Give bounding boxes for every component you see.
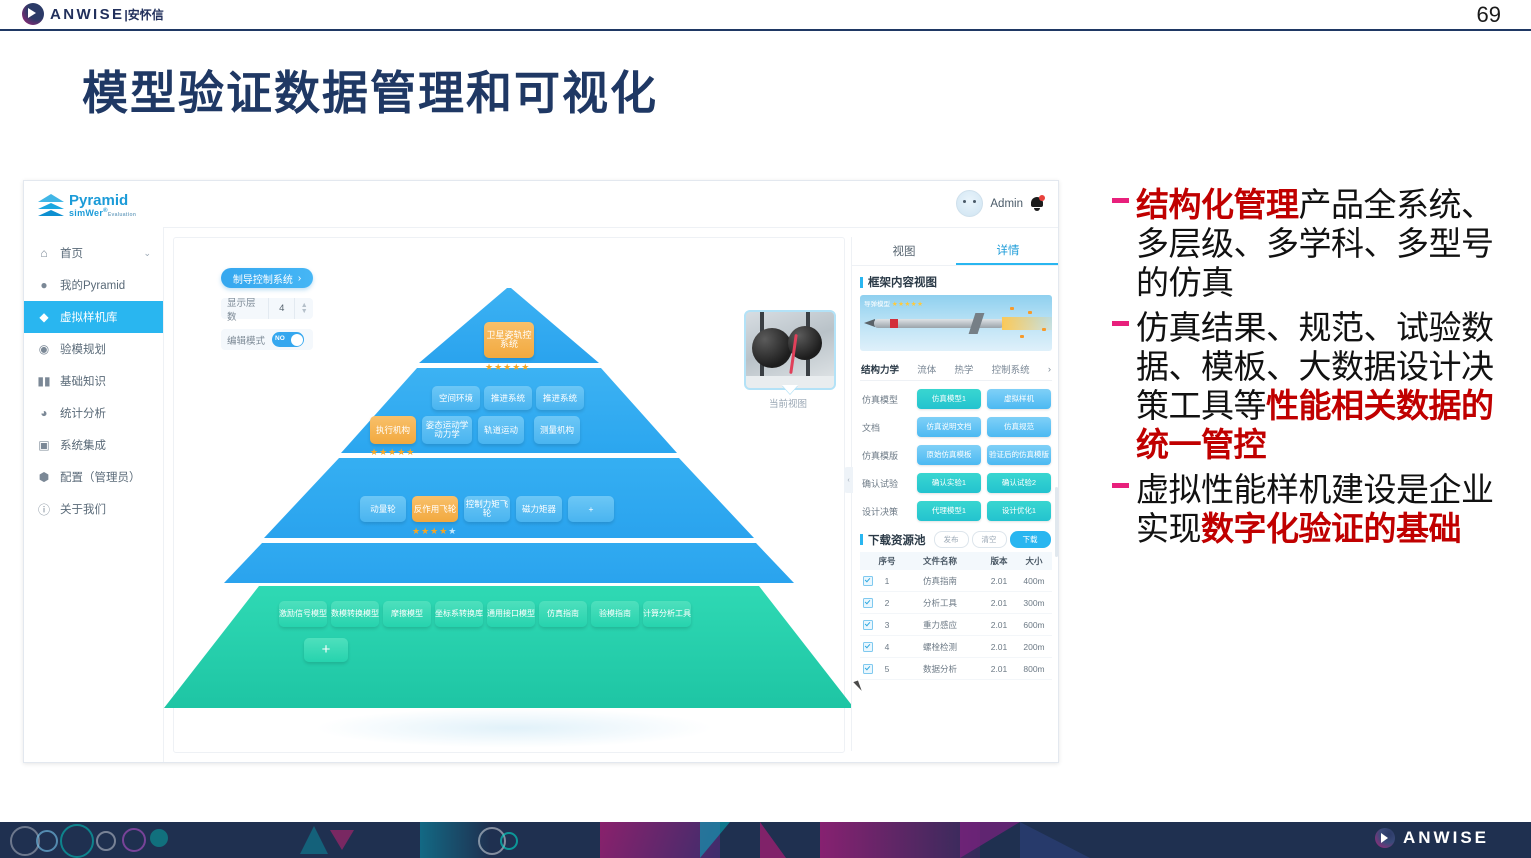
table-cell: 2.01 [982,664,1016,674]
bullet-dash-icon [1112,321,1129,326]
anwise-logo-icon [22,3,44,25]
pyramid-logo-icon [38,194,64,218]
row-checkbox[interactable] [863,576,873,586]
brand-name-en: ANWISE [50,6,124,23]
robot-icon: ▣ [37,438,51,452]
missile-rating-stars: ★★★★★ [892,301,924,308]
matrix-button[interactable]: 仿真规范 [987,417,1051,437]
pyramid-node[interactable]: 测量机构 [534,416,580,444]
current-view-label: 当前视图 [752,396,824,410]
pyramid-product-name: Pyramid [69,193,136,208]
sidebar-item-0[interactable]: ⌂首页⌄ [24,237,163,269]
pyramid-node[interactable]: 通用接口模型 [487,601,535,627]
download-action-2[interactable]: 下载 [1010,531,1051,548]
table-cell: 2.01 [982,576,1016,586]
missile-preview-image[interactable]: 导弹模型 ★★★★★ [860,295,1052,351]
table-cell: 2 [876,598,898,608]
frame-section-title: 框架内容视图 [852,266,1059,295]
right-panel-tabs: 视图详情 [852,237,1059,266]
table-cell: 仿真指南 [898,575,982,587]
home-icon: ⌂ [37,246,51,260]
application-screenshot: Pyramid simWer®Evaluation ⌂首页⌄●我的Pyramid… [23,180,1059,763]
rating-stars: ★★★★★ [370,447,415,458]
pyramid-node[interactable]: 控制力矩飞轮 [464,496,510,522]
pyramid-level-shape [224,543,794,583]
discipline-tab-1[interactable]: 流体 [916,362,937,376]
column-header: 大小 [1016,555,1052,567]
sidebar-item-2[interactable]: ◆虚拟样机库 [24,301,163,333]
download-table: 序号文件名称版本大小 1仿真指南2.01400m2分析工具2.01300m3重力… [860,552,1052,680]
user-name: Admin [990,198,1023,210]
sidebar-item-label: 统计分析 [60,405,106,421]
compass-icon: ◉ [37,342,51,356]
matrix-button[interactable]: 确认实验1 [917,473,981,493]
bullet-item-2: 虚拟性能样机建设是企业实现数字化验证的基础 [1112,471,1520,549]
sidebar-item-1[interactable]: ●我的Pyramid [24,269,163,301]
user-area[interactable]: Admin [956,190,1044,217]
current-view-thumbnail[interactable] [744,310,836,390]
table-cell: 4 [876,642,898,652]
matrix-row: 文档仿真说明文档仿真规范 [858,413,1054,441]
matrix-row-label: 设计决策 [858,505,914,518]
discipline-subtabs: 结构力学流体热学控制系统› [860,358,1052,381]
bullet-list: 结构化管理产品全系统、多层级、多学科、多型号的仿真仿真结果、规范、试验数据、模板… [1112,186,1520,554]
bullet-dash-icon [1112,198,1129,203]
right-panel: ‹ 视图详情 框架内容视图 导弹模型 ★★★★★ 结构力学流体热学控制系统› 仿… [851,237,1059,751]
download-action-0[interactable]: 发布 [934,531,969,548]
pyramid-product-sub: simWer®Evaluation [69,208,136,218]
download-table-body: 1仿真指南2.01400m2分析工具2.01300m3重力感应2.01600m4… [860,570,1052,680]
table-cell: 800m [1016,664,1052,674]
sidebar-item-8[interactable]: ⓘ关于我们 [24,493,163,525]
brand-name-cn: 安怀信 [128,8,164,22]
discipline-tab-3[interactable]: 控制系统 [991,362,1031,376]
info-icon: ⓘ [37,502,51,516]
page-title: 模型验证数据管理和可视化 [82,57,658,123]
download-pool-title: 下载资源池 [868,532,926,548]
download-pool-buttons: 发布清空下载 [931,531,1051,548]
pyramid-node[interactable]: 推进系统 [484,386,532,410]
table-cell: 400m [1016,576,1052,586]
table-cell: 200m [1016,642,1052,652]
brand-logo: ANWISE|安怀信 [22,3,164,25]
sidebar-item-label: 验模规划 [60,341,106,357]
subtabs-more-icon[interactable]: › [1047,364,1052,375]
pyramid-canvas: 制导控制系统 › 显示层数 4 ▲▼ 编辑模式 NO ‹ › 卫星姿轨控系统★★… [173,237,845,753]
matrix-row-label: 文档 [858,421,914,434]
pyramid-ground-shadow [314,708,714,748]
table-cell: 600m [1016,620,1052,630]
pyramid-node[interactable]: 空间环境 [432,386,480,410]
table-cell: 3 [876,620,898,630]
footer-brand-text: ANWISE [1403,828,1489,848]
sidebar-nav: ⌂首页⌄●我的Pyramid◆虚拟样机库◉验模规划▮▮基础知识◕统计分析▣系统集… [24,237,163,525]
discipline-tab-0[interactable]: 结构力学 [860,362,900,376]
pyramid-node[interactable]: 反作用飞轮 [412,496,458,522]
table-row[interactable]: 5数据分析2.01800m [860,658,1052,680]
bell-icon[interactable] [1030,196,1044,211]
pyramid-node[interactable]: 数模转换模型 [331,601,379,627]
pyramid-node[interactable]: 姿态运动学动力学 [422,416,472,444]
rating-stars: ★★★★★ [412,526,457,537]
table-cell: 2.01 [982,642,1016,652]
pyramid-node[interactable]: 动量轮 [360,496,406,522]
table-cell: 300m [1016,598,1052,608]
pyramid-node[interactable]: 轨道运动 [478,416,524,444]
pyramid-sub-text: simWer [69,208,103,218]
pyramid-node[interactable]: 坐标系转换库 [435,601,483,627]
table-row[interactable]: 2分析工具2.01300m [860,592,1052,614]
sidebar-item-label: 基础知识 [60,373,106,389]
table-cell: 重力感应 [898,619,982,631]
matrix-button[interactable]: 原始仿真模板 [917,445,981,465]
matrix-row-label: 确认试验 [858,477,914,490]
matrix-row: 确认试验确认实验1确认试验2 [858,469,1054,497]
rating-stars: ★★★★★ [485,362,530,373]
download-table-header: 序号文件名称版本大小 [860,552,1052,570]
pyramid-node[interactable]: 卫星姿轨控系统 [484,322,534,358]
table-cell: 2.01 [982,598,1016,608]
pyramid-node[interactable]: 执行机构 [370,416,416,444]
section-accent-bar [860,534,863,545]
book-icon: ▮▮ [37,374,51,388]
row-checkbox[interactable] [863,598,873,608]
table-row[interactable]: 4螺栓检测2.01200m [860,636,1052,658]
table-row[interactable]: 3重力感应2.01600m [860,614,1052,636]
column-header: 版本 [982,555,1016,567]
bullet-highlight: 结构化管理 [1136,185,1299,224]
pyramid-node[interactable]: 验模指南 [591,601,639,627]
footer-brand: ANWISE [1375,828,1489,848]
pyramid-node[interactable]: + [568,496,614,522]
missile-tag: 导弹模型 ★★★★★ [864,298,923,308]
table-cell: 螺栓检测 [898,641,982,653]
cell-select[interactable] [860,642,876,652]
pyramid-node[interactable]: 仿真指南 [539,601,587,627]
cell-select[interactable] [860,620,876,630]
sidebar-item-6[interactable]: ▣系统集成 [24,429,163,461]
matrix-button[interactable]: 确认试验2 [987,473,1051,493]
section-accent-bar [860,277,863,288]
bullet-item-1: 仿真结果、规范、试验数据、模板、大数据设计决策工具等性能相关数据的统一管控 [1112,309,1520,465]
sidebar-item-label: 首页 [60,245,83,261]
matrix-row-label: 仿真模版 [858,449,914,462]
sidebar-item-label: 系统集成 [60,437,106,453]
app-topbar: Admin [163,181,1058,228]
pyramid-node[interactable]: 计算分析工具 [643,601,691,627]
pyramid-node[interactable]: 激励信号模型 [279,601,327,627]
table-cell: 2.01 [982,620,1016,630]
download-pool-header: 下载资源池 发布清空下载 [852,525,1059,552]
table-cell: 1 [876,576,898,586]
right-panel-tab-1[interactable]: 详情 [956,237,1059,265]
sidebar-item-3[interactable]: ◉验模规划 [24,333,163,365]
sidebar-item-label: 关于我们 [60,501,106,517]
row-checkbox[interactable] [863,620,873,630]
pyramid-node[interactable]: 摩擦模型 [383,601,431,627]
bullet-highlight: 数字化验证的基础 [1201,509,1461,548]
matrix-button[interactable]: 仿真模型1 [917,389,981,409]
brand-name: ANWISE|安怀信 [50,6,164,23]
sidebar-item-7[interactable]: ⬢配置（管理员） [24,461,163,493]
download-action-1[interactable]: 清空 [972,531,1007,548]
slide-footer: ANWISE [0,822,1531,858]
user-icon: ● [37,278,51,292]
cell-select[interactable] [860,598,876,608]
missile-tag-label: 导弹模型 [864,301,890,308]
pyramid-node[interactable]: 磁力矩器 [516,496,562,522]
sidebar-item-label: 虚拟样机库 [60,309,118,325]
sidebar-item-5[interactable]: ◕统计分析 [24,397,163,429]
row-checkbox[interactable] [863,664,873,674]
panel-scrollbar[interactable] [1055,487,1058,557]
pyramid-node[interactable]: + [304,638,348,662]
matrix-button[interactable]: 代理模型1 [917,501,981,521]
sidebar-item-4[interactable]: ▮▮基础知识 [24,365,163,397]
row-checkbox[interactable] [863,642,873,652]
table-cell: 分析工具 [898,597,982,609]
box-icon: ⬢ [37,470,51,484]
column-header: 文件名称 [898,555,982,567]
cell-select[interactable] [860,576,876,586]
frame-section-title-text: 框架内容视图 [868,274,937,290]
bullet-text: 结构化管理产品全系统、多层级、多学科、多型号的仿真 [1136,186,1520,303]
chevron-down-icon[interactable]: ⌄ [143,248,151,259]
column-header: 序号 [876,555,898,567]
table-cell: 5 [876,664,898,674]
matrix-row: 设计决策代理模型1设计优化1 [858,497,1054,525]
bullet-text: 仿真结果、规范、试验数据、模板、大数据设计决策工具等性能相关数据的统一管控 [1136,309,1520,465]
cell-select[interactable] [860,664,876,674]
bullet-dash-icon [1112,483,1129,488]
pie-chart-icon: ◕ [37,406,51,420]
matrix-button[interactable]: 仿真说明文档 [917,417,981,437]
footer-decoration [0,822,1130,858]
content-matrix: 仿真模型仿真模型1虚拟样机文档仿真说明文档仿真规范仿真模版原始仿真模板验证后的仿… [858,385,1054,525]
slide-header: ANWISE|安怀信 69 [0,0,1531,31]
table-row[interactable]: 1仿真指南2.01400m [860,570,1052,592]
anwise-footer-logo-icon [1375,828,1395,848]
sidebar-item-label: 配置（管理员） [60,469,141,485]
page-number: 69 [1477,2,1501,28]
sidebar: Pyramid simWer®Evaluation ⌂首页⌄●我的Pyramid… [24,181,164,763]
matrix-row: 仿真模型仿真模型1虚拟样机 [858,385,1054,413]
bullet-text: 虚拟性能样机建设是企业实现数字化验证的基础 [1136,471,1520,549]
discipline-tab-2[interactable]: 热学 [953,362,974,376]
matrix-button[interactable]: 虚拟样机 [987,389,1051,409]
matrix-row: 仿真模版原始仿真模板验证后的仿真模版 [858,441,1054,469]
avatar[interactable] [956,190,983,217]
layers-icon: ◆ [37,310,51,324]
callout-tip [782,385,798,394]
right-panel-tab-0[interactable]: 视图 [852,237,956,265]
pyramid-tiny: Evaluation [108,212,136,218]
panel-collapse-icon[interactable]: ‹ [844,467,853,493]
pyramid-node[interactable]: 推进系统 [536,386,584,410]
matrix-button[interactable]: 设计优化1 [987,501,1051,521]
bullet-item-0: 结构化管理产品全系统、多层级、多学科、多型号的仿真 [1112,186,1520,303]
matrix-button[interactable]: 验证后的仿真模版 [987,445,1051,465]
table-cell: 数据分析 [898,663,982,675]
matrix-row-label: 仿真模型 [858,393,914,406]
pyramid-logo: Pyramid simWer®Evaluation [38,193,136,218]
sidebar-item-label: 我的Pyramid [60,277,125,293]
